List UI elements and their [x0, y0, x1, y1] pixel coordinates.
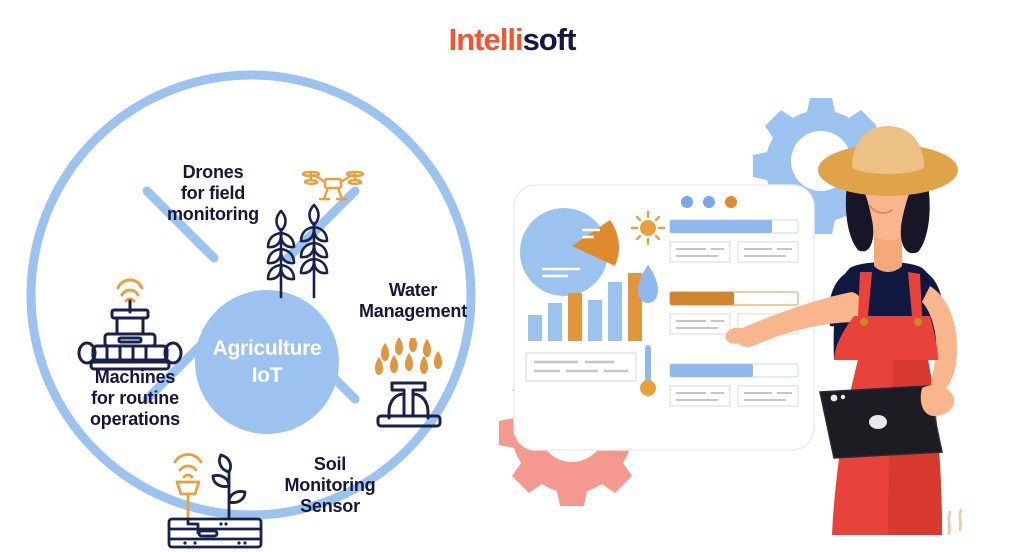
label-line: Drones	[148, 162, 278, 183]
wheel-label-machines: Machines for routine operations	[60, 367, 210, 431]
center-label-line2: IoT	[252, 362, 283, 389]
sprinkler-body	[378, 383, 440, 426]
bar-4	[588, 300, 602, 341]
sensor-probe	[177, 482, 199, 519]
status-dots	[681, 196, 737, 208]
button-right	[914, 318, 922, 326]
label-line: monitoring	[148, 204, 278, 225]
farmer-iot-illustration	[490, 60, 1024, 535]
wheel-label-water: Water Management	[348, 280, 478, 322]
bar-5	[608, 282, 622, 341]
status-dot-1	[681, 196, 693, 208]
wifi-signal-icon	[175, 454, 201, 477]
agriculture-iot-wheel: Agriculture IoT	[18, 62, 484, 528]
bar-2	[548, 303, 562, 341]
button-left	[860, 318, 868, 326]
label-line: for routine	[60, 388, 210, 409]
brand-logo: Intellisoft	[0, 22, 1024, 58]
water-droplets	[375, 338, 442, 375]
label-line: Soil	[266, 454, 394, 475]
plant-icon	[213, 455, 245, 519]
status-dot-3	[725, 196, 737, 208]
sun-icon	[632, 212, 664, 244]
motion-strokes	[949, 510, 961, 534]
overalls-bib	[834, 316, 938, 360]
label-line: Monitoring	[266, 475, 394, 496]
label-line: operations	[60, 409, 210, 430]
bar-3	[568, 293, 582, 341]
status-dot-2	[703, 196, 715, 208]
wheel-label-soil: Soil Monitoring Sensor	[266, 454, 394, 518]
label-line: Machines	[60, 367, 210, 388]
center-label-line1: Agriculture	[213, 335, 322, 362]
bar-1	[528, 315, 542, 341]
soil-layers	[169, 519, 261, 547]
label-line: Water	[348, 280, 478, 301]
wheel-center-hub: Agriculture IoT	[195, 290, 339, 434]
summary-text-box	[526, 353, 636, 381]
logo-text-secondary: soft	[523, 22, 576, 57]
label-line: for field	[148, 183, 278, 204]
wheel-label-drones: Drones for field monitoring	[148, 162, 278, 226]
hand-on-laptop	[921, 385, 955, 416]
label-line: Management	[348, 301, 478, 322]
wifi-signal-icon	[118, 280, 142, 301]
soil-particles	[183, 522, 246, 544]
logo-text-primary: Intelli	[449, 22, 523, 57]
label-line: Sensor	[266, 496, 394, 517]
